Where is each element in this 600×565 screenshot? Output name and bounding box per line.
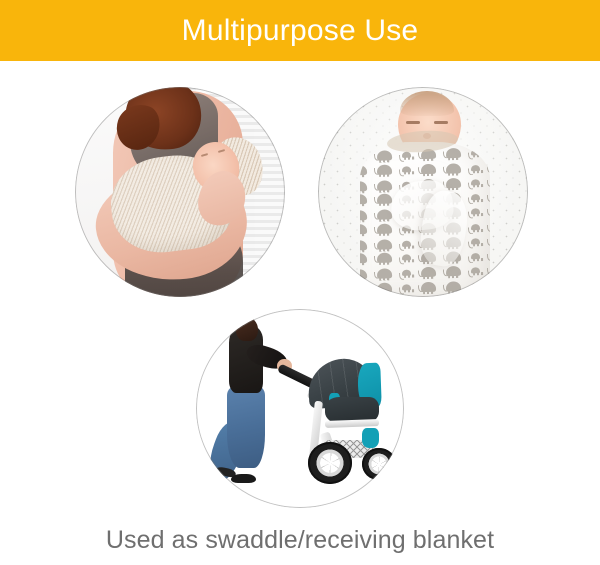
header-banner: Multipurpose Use <box>0 0 600 61</box>
photo-swaddled-baby-image <box>318 87 528 297</box>
elephant-motif <box>377 194 392 204</box>
elephant-print-row <box>360 162 490 177</box>
photo-circle-mother-baby <box>75 87 285 297</box>
elephant-motif <box>446 295 461 297</box>
elephant-motif <box>446 177 461 188</box>
photo-circle-swaddled-baby <box>318 87 528 297</box>
elephant-motif <box>360 253 367 263</box>
elephant-motif <box>360 151 367 162</box>
elephant-motif <box>421 164 436 174</box>
scene-sleeping-swaddled-baby <box>318 87 528 297</box>
elephant-motif <box>421 282 436 292</box>
elephant-motif <box>471 165 480 171</box>
elephant-motif <box>377 268 392 279</box>
elephant-motif <box>446 148 461 159</box>
elephant-print-swaddle-blanket <box>360 142 490 297</box>
woman-jeans <box>227 385 264 469</box>
elephant-motif <box>360 283 367 293</box>
photo-circle-stroller <box>196 309 404 508</box>
elephant-print-row <box>360 279 490 294</box>
photo-stroller-image <box>196 309 404 508</box>
elephant-motif <box>402 152 411 158</box>
caption-bar: Used as swaddle/receiving blanket <box>0 518 600 563</box>
elephant-motif <box>471 149 480 155</box>
elephant-motif <box>360 194 367 204</box>
elephant-motif <box>377 223 392 233</box>
elephant-motif <box>360 240 367 251</box>
caption-text: Used as swaddle/receiving blanket <box>106 526 494 555</box>
elephant-motif <box>402 240 411 246</box>
elephant-motif <box>377 239 392 250</box>
elephant-motif <box>471 253 480 259</box>
elephant-motif <box>446 281 461 291</box>
elephant-motif <box>402 270 411 276</box>
page-title: Multipurpose Use <box>182 16 419 46</box>
elephant-motif <box>471 283 480 289</box>
elephant-motif <box>421 267 436 278</box>
elephant-motif <box>421 296 436 297</box>
elephant-motif <box>360 269 367 280</box>
elephant-motif <box>471 238 480 244</box>
elephant-motif <box>360 224 367 234</box>
elephant-motif <box>402 284 411 290</box>
elephant-motif <box>471 208 480 214</box>
elephant-motif <box>402 255 411 261</box>
stroller-front-wheel <box>308 442 352 484</box>
elephant-motif <box>377 253 392 263</box>
photo-mother-baby-image <box>75 87 285 297</box>
woman-hair <box>236 317 259 341</box>
elephant-motif <box>377 150 392 161</box>
elephant-motif <box>471 224 480 230</box>
baby-eye-right <box>434 121 448 124</box>
elephant-motif <box>377 209 392 220</box>
elephant-motif <box>471 179 480 185</box>
elephant-motif <box>402 166 411 172</box>
stroller-rear-wheel <box>362 448 395 480</box>
baby-eye-left <box>406 121 420 124</box>
woman-shoe-front <box>231 474 256 483</box>
wheel-spokes <box>371 457 387 472</box>
elephant-motif <box>360 165 367 175</box>
elephant-motif <box>360 181 367 192</box>
elephant-motif <box>446 266 461 277</box>
elephant-motif <box>446 163 461 173</box>
scene-mother-holding-baby <box>75 87 285 297</box>
elephant-motif <box>377 164 392 174</box>
elephant-motif <box>377 180 392 191</box>
elephant-motif <box>360 210 367 221</box>
scene-woman-pushing-stroller <box>196 309 404 508</box>
elephant-print-row <box>360 263 490 280</box>
elephant-motif <box>377 282 392 292</box>
elephant-motif <box>471 267 480 273</box>
stroller-teal-rear-panel <box>362 428 379 448</box>
elephant-motif <box>471 194 480 200</box>
stroller-frame-lower-bar <box>325 419 379 428</box>
wheel-spokes <box>320 453 341 473</box>
